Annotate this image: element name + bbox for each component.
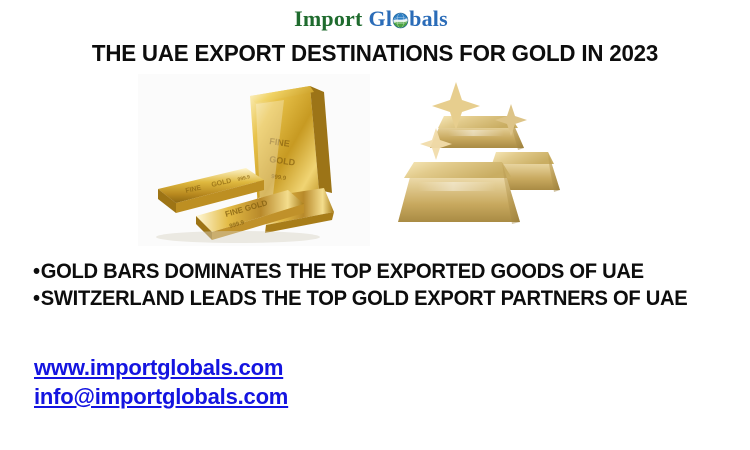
list-item: •SWITZERLAND LEADS THE TOP GOLD EXPORT P… (33, 285, 705, 312)
page-title: THE UAE EXPORT DESTINATIONS FOR GOLD IN … (11, 40, 739, 67)
website-link[interactable]: www.importglobals.com (34, 353, 454, 382)
list-item-text: SWITZERLAND LEADS THE TOP GOLD EXPORT PA… (41, 287, 688, 310)
list-item: •GOLD BARS DOMINATES THE TOP EXPORTED GO… (33, 258, 705, 285)
email-link[interactable]: info@importglobals.com (34, 382, 454, 411)
highlight-list: •GOLD BARS DOMINATES THE TOP EXPORTED GO… (33, 258, 733, 312)
contact-block: www.importglobals.com info@importglobals… (34, 353, 454, 411)
list-item-text: GOLD BARS DOMINATES THE TOP EXPORTED GOO… (41, 260, 644, 283)
bullet-marker: • (33, 285, 40, 312)
globe-icon (392, 12, 409, 29)
logo-text-globals-prefix: Gl (369, 6, 393, 32)
brand-logo[interactable]: Import Gl bals (281, 4, 461, 34)
gold-bars-photo: FINE GOLD 999.9 FINE GOLD 999.9 (138, 80, 370, 245)
bullet-marker: • (33, 258, 40, 285)
logo-text-import: Import (294, 6, 362, 32)
logo-text-globals-suffix: bals (409, 6, 448, 32)
slide-canvas: Import Gl bals (0, 0, 750, 450)
gold-bars-illustration (392, 78, 570, 246)
